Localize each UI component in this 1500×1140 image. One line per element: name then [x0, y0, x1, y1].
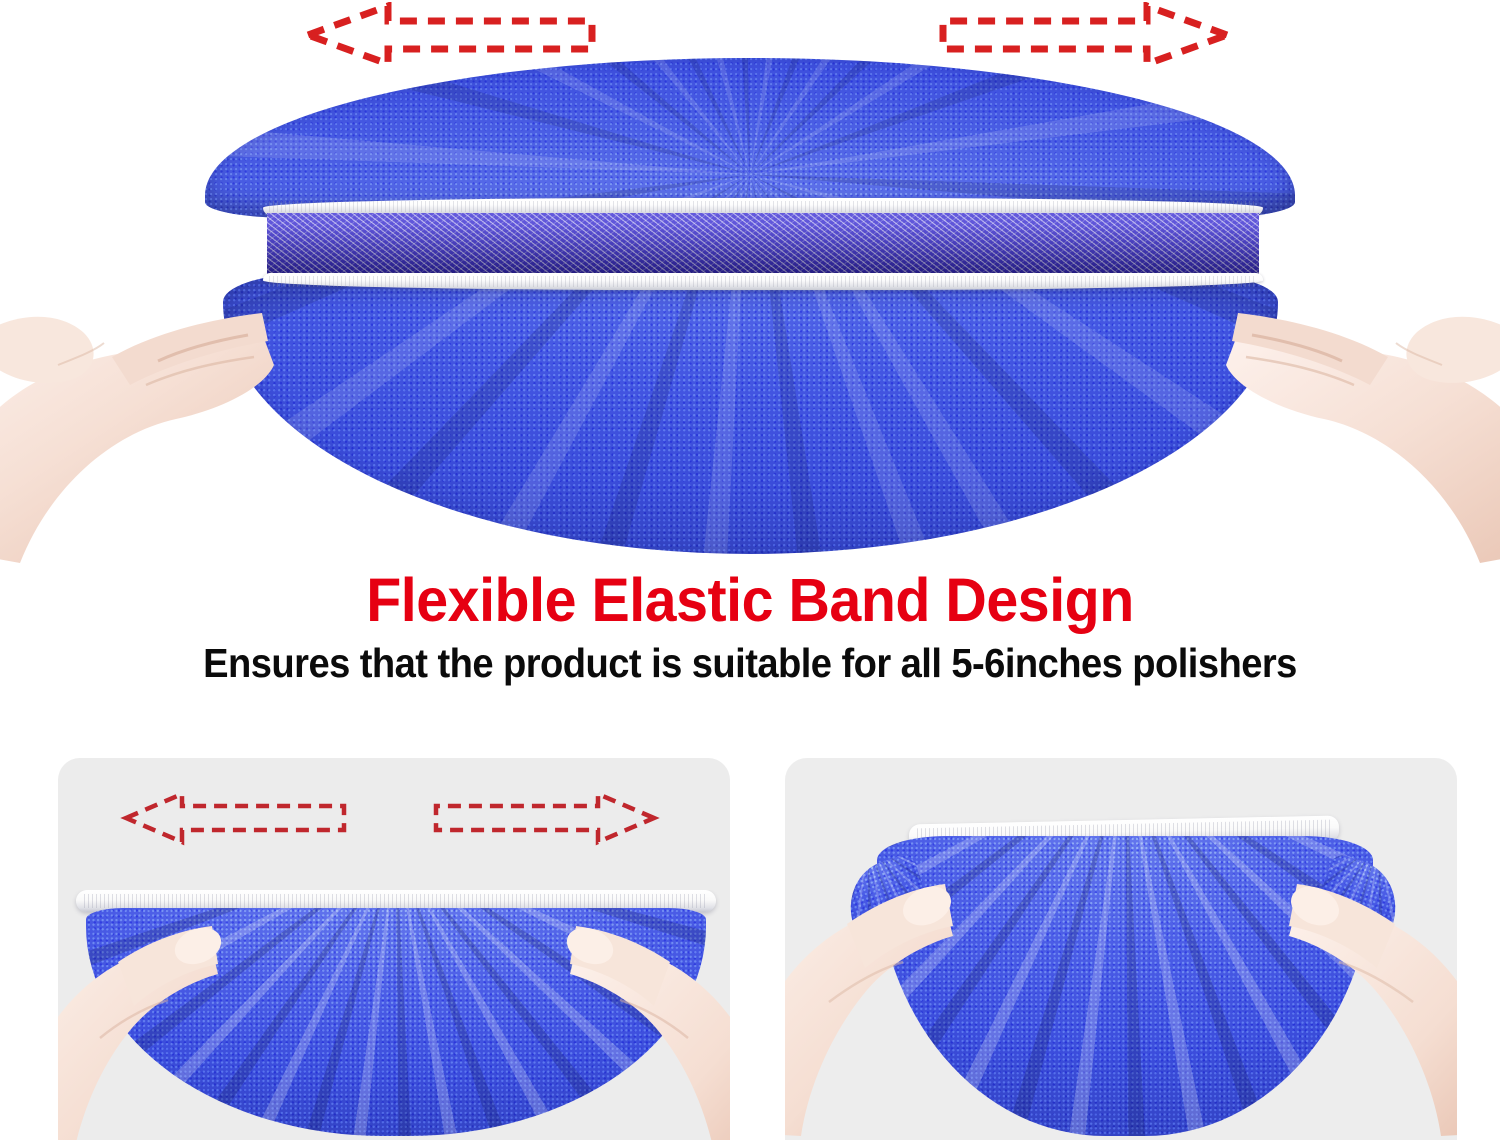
- hero-section: [0, 0, 1500, 570]
- headline-text: Flexible Elastic Band Design: [45, 568, 1455, 634]
- microfiber-pad-bottom: [223, 274, 1278, 554]
- product-infographic: Flexible Elastic Band Design Ensures tha…: [0, 0, 1500, 1140]
- hand-right: [1277, 836, 1457, 1136]
- hand-left: [0, 215, 292, 575]
- hand-left: [785, 836, 965, 1136]
- hand-right: [1208, 215, 1500, 575]
- elastic-band-bottom: [263, 273, 1263, 290]
- microfiber-pad-top: [205, 58, 1295, 218]
- elastic-band-assembly: [263, 198, 1263, 290]
- caption-block: Flexible Elastic Band Design Ensures tha…: [0, 568, 1500, 687]
- elastic-weave-panel: [267, 213, 1259, 275]
- card-stretched-wide: [785, 758, 1457, 1140]
- hand-right: [556, 878, 730, 1140]
- stretch-arrow-right-icon: [430, 790, 660, 846]
- stretch-arrow-left-icon: [120, 790, 350, 846]
- card-stretch-demo: [58, 758, 730, 1140]
- subline-text: Ensures that the product is suitable for…: [53, 640, 1448, 687]
- microfiber-bonnet-open: [205, 58, 1295, 503]
- hand-left: [58, 878, 232, 1140]
